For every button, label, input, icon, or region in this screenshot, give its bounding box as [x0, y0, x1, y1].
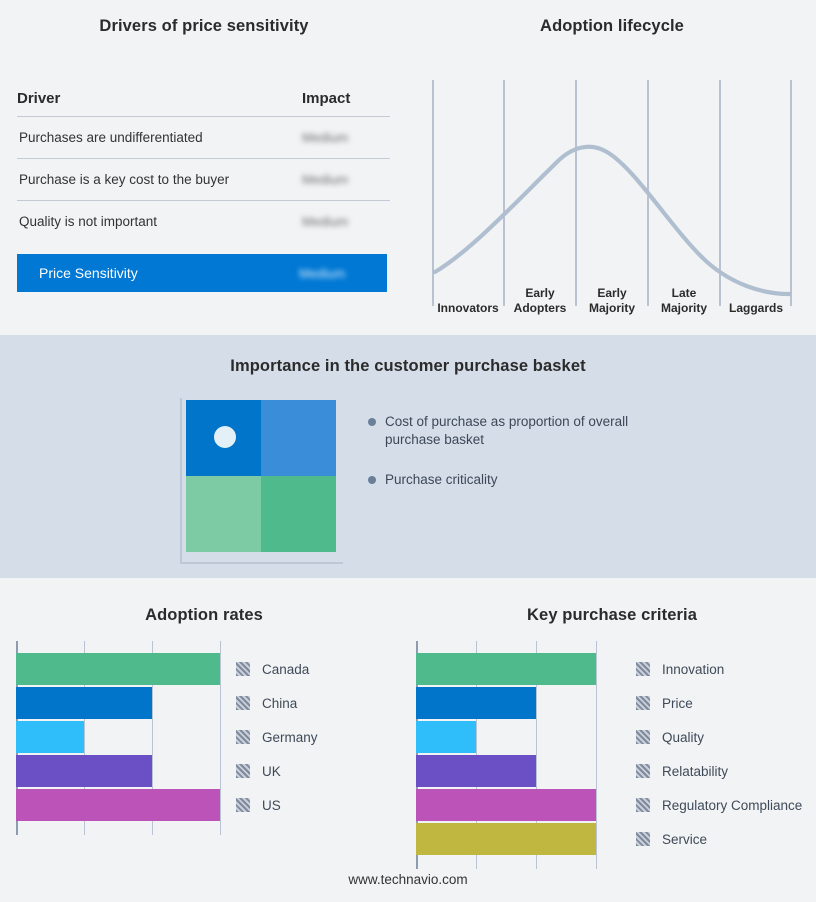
impact-value: Medium — [299, 266, 387, 281]
drivers-panel: Drivers of price sensitivity Driver Impa… — [0, 0, 408, 335]
legend-label: Canada — [262, 662, 309, 677]
hatch-swatch-icon — [636, 832, 650, 846]
legend-item: Cost of purchase as proportion of overal… — [368, 413, 668, 449]
criteria-plot-area — [416, 641, 622, 869]
drivers-title: Drivers of price sensitivity — [0, 17, 408, 36]
legend-item: US — [236, 789, 318, 821]
footer-url: www.technavio.com — [0, 872, 816, 887]
legend-label: Relatability — [662, 764, 728, 779]
legend-label: China — [262, 696, 297, 711]
adoption-plot-area — [16, 641, 222, 835]
legend-label: Germany — [262, 730, 318, 745]
legend-item: Purchase criticality — [368, 471, 668, 489]
adoption-rates-title: Adoption rates — [0, 606, 408, 625]
legend-item: Price — [636, 687, 802, 719]
lifecycle-title: Adoption lifecycle — [408, 17, 816, 36]
hatch-swatch-icon — [236, 730, 250, 744]
impact-value: Medium — [302, 172, 390, 187]
hatch-swatch-icon — [636, 798, 650, 812]
legend-label: Regulatory Compliance — [662, 798, 802, 813]
stage-label-early-adopters: EarlyAdopters — [504, 269, 576, 315]
hatch-swatch-icon — [636, 730, 650, 744]
quadrant-top-left — [186, 400, 261, 476]
column-header-impact: Impact — [302, 90, 390, 107]
bar-row-quality — [416, 721, 622, 753]
hatch-swatch-icon — [636, 696, 650, 710]
legend-label: UK — [262, 764, 281, 779]
legend-bullet-icon — [368, 476, 376, 484]
legend-label: US — [262, 798, 281, 813]
criteria-bars — [416, 641, 622, 869]
importance-title: Importance in the customer purchase bask… — [0, 357, 816, 376]
legend-label: Service — [662, 832, 707, 847]
bar-row-innovation — [416, 653, 622, 685]
legend-label: Purchase criticality — [385, 471, 498, 489]
bar-row-uk — [16, 755, 222, 787]
legend-bullet-icon — [368, 418, 376, 426]
key-purchase-criteria-chart: Innovation Price Quality Relatability Re… — [416, 641, 802, 869]
driver-label: Price Sensitivity — [37, 265, 299, 281]
legend-item: Canada — [236, 653, 318, 685]
hatch-swatch-icon — [236, 662, 250, 676]
column-header-driver: Driver — [17, 90, 302, 107]
legend-item: Germany — [236, 721, 318, 753]
legend-item: Innovation — [636, 653, 802, 685]
legend-item: Regulatory Compliance — [636, 789, 802, 821]
table-row: Purchases are undifferentiated Medium — [17, 117, 390, 158]
criteria-legend: Innovation Price Quality Relatability Re… — [636, 641, 802, 869]
table-row: Purchase is a key cost to the buyer Medi… — [17, 159, 390, 200]
bar-row-relatability — [416, 755, 622, 787]
adoption-legend: Canada China Germany UK US — [236, 641, 318, 835]
quadrant-bottom-right — [261, 476, 336, 552]
adoption-rates-panel: Adoption rates Canada China Germany UK U… — [0, 578, 408, 878]
quadrant-bottom-left — [186, 476, 261, 552]
importance-legend: Cost of purchase as proportion of overal… — [368, 413, 668, 511]
bar-row-price — [416, 687, 622, 719]
stage-label-innovators: Innovators — [432, 269, 504, 315]
hatch-swatch-icon — [636, 764, 650, 778]
impact-value: Medium — [302, 214, 390, 229]
legend-item: China — [236, 687, 318, 719]
legend-item: UK — [236, 755, 318, 787]
key-purchase-criteria-panel: Key purchase criteria Innovation Price Q… — [408, 578, 816, 878]
lifecycle-stage-labels: Innovators EarlyAdopters EarlyMajority L… — [432, 269, 792, 315]
impact-value: Medium — [302, 130, 390, 145]
importance-matrix — [180, 400, 345, 570]
stage-label-late-majority: LateMajority — [648, 269, 720, 315]
hatch-swatch-icon — [236, 764, 250, 778]
driver-label: Quality is not important — [17, 214, 302, 229]
table-header: Driver Impact — [17, 90, 390, 116]
quadrant-top-right — [261, 400, 336, 476]
price-sensitivity-row: Price Sensitivity Medium — [17, 254, 387, 292]
importance-panel: Importance in the customer purchase bask… — [0, 335, 816, 578]
hatch-swatch-icon — [236, 798, 250, 812]
adoption-bars — [16, 641, 222, 835]
adoption-rates-chart: Canada China Germany UK US — [16, 641, 318, 835]
matrix-x-axis — [180, 562, 343, 564]
stage-label-early-majority: EarlyMajority — [576, 269, 648, 315]
legend-item: Relatability — [636, 755, 802, 787]
legend-item: Service — [636, 823, 802, 855]
driver-label: Purchases are undifferentiated — [17, 130, 302, 145]
lifecycle-panel: Adoption lifecycle Innovators EarlyAdopt… — [408, 0, 816, 335]
bar-row-canada — [16, 653, 222, 685]
bar-row-germany — [16, 721, 222, 753]
lifecycle-chart: Innovators EarlyAdopters EarlyMajority L… — [432, 80, 792, 315]
bar-row-service — [416, 823, 622, 855]
drivers-table: Driver Impact Purchases are undifferenti… — [17, 90, 390, 292]
bar-row-china — [16, 687, 222, 719]
key-purchase-criteria-title: Key purchase criteria — [408, 606, 816, 625]
matrix-marker-dot — [214, 426, 236, 448]
table-row: Quality is not important Medium — [17, 201, 390, 242]
legend-label: Quality — [662, 730, 704, 745]
matrix-quadrants — [186, 400, 336, 552]
bar-row-us — [16, 789, 222, 821]
hatch-swatch-icon — [236, 696, 250, 710]
stage-label-laggards: Laggards — [720, 269, 792, 315]
matrix-y-axis — [180, 398, 182, 562]
legend-label: Innovation — [662, 662, 724, 677]
driver-label: Purchase is a key cost to the buyer — [17, 172, 302, 187]
legend-item: Quality — [636, 721, 802, 753]
hatch-swatch-icon — [636, 662, 650, 676]
bar-row-regulatory-compliance — [416, 789, 622, 821]
legend-label: Cost of purchase as proportion of overal… — [385, 413, 668, 449]
legend-label: Price — [662, 696, 693, 711]
